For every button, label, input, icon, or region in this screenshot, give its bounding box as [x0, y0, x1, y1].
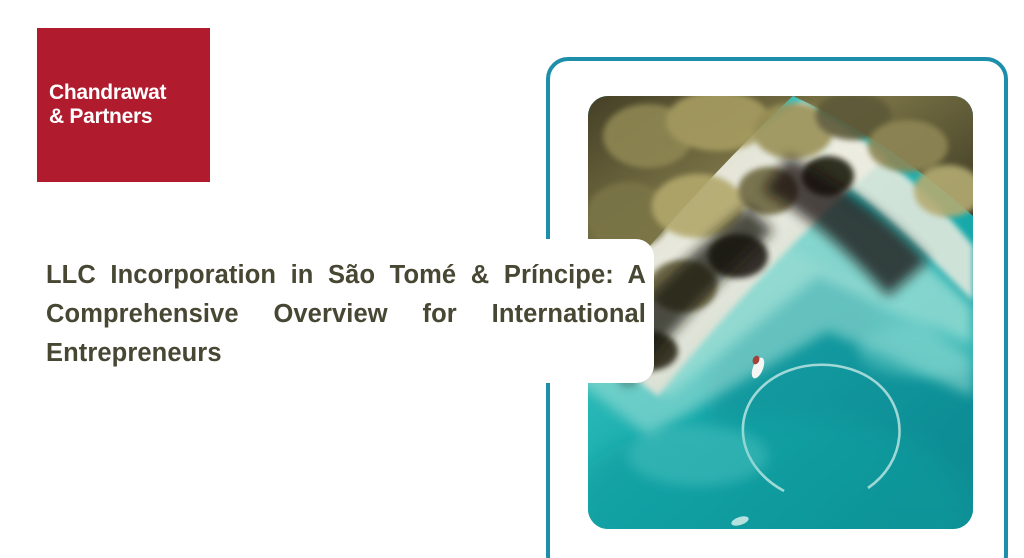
page-title: LLC Incorporation in São Tomé & Príncipe… [46, 256, 646, 372]
brand-logo-text: Chandrawat & Partners [37, 81, 166, 128]
presentation-slide: Chandrawat & Partners [0, 0, 1024, 558]
brand-logo: Chandrawat & Partners [37, 28, 210, 182]
